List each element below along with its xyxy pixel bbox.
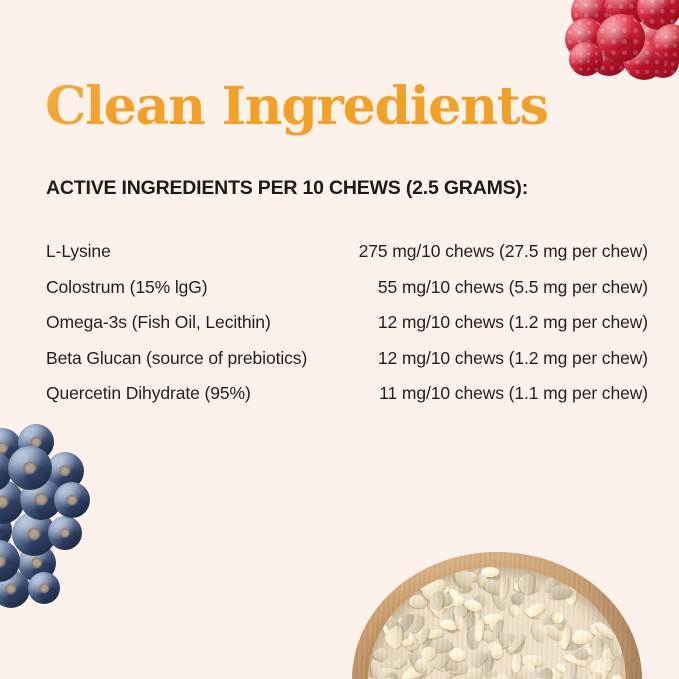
oat-flake: [481, 567, 499, 577]
blueberry: [0, 510, 12, 550]
ingredient-name: Omega-3s (Fish Oil, Lecithin): [46, 311, 271, 333]
oat-flake: [438, 643, 457, 669]
oat-flake: [559, 673, 582, 679]
oat-flake: [465, 665, 484, 679]
oat-flake: [421, 586, 443, 605]
oat-flake: [375, 666, 401, 679]
ingredient-name: Quercetin Dihydrate (95%): [46, 382, 251, 404]
oat-flake: [381, 613, 404, 636]
oat-flake: [475, 593, 490, 608]
oat-flake: [420, 635, 432, 659]
oat-flake: [587, 619, 611, 641]
ingredient-row: L-Lysine275 mg/10 chews (27.5 mg per che…: [46, 240, 648, 276]
oat-flake: [468, 626, 481, 650]
oat-flake: [439, 618, 459, 631]
blueberry: [20, 478, 62, 520]
ingredient-amount: 55 mg/10 chews (5.5 mg per chew): [378, 276, 648, 298]
oat-flake: [560, 640, 582, 650]
oat-flake: [541, 574, 560, 593]
oat-flake: [435, 592, 454, 607]
oat-flake: [431, 649, 452, 671]
oat-flake: [517, 572, 536, 596]
oat-flake: [591, 638, 601, 659]
bowl-exterior: [352, 552, 642, 679]
oat-flake: [458, 583, 472, 593]
oat-flake: [538, 668, 553, 679]
oat-flake: [427, 592, 439, 608]
oat-flake: [413, 656, 429, 673]
oat-flake: [529, 620, 550, 644]
blueberry: [12, 512, 56, 556]
oat-flake: [487, 621, 504, 637]
oat-flake: [509, 603, 521, 617]
oat-flake: [559, 626, 573, 651]
oat-flake: [442, 646, 468, 666]
oat-flake: [478, 572, 489, 588]
oat-flake: [444, 606, 460, 630]
oat-flake: [589, 659, 604, 673]
oat-flake: [437, 584, 453, 600]
oat-flake: [429, 595, 448, 615]
oat-flake: [490, 618, 504, 641]
oat-flake: [408, 595, 427, 609]
ingredient-amount: 12 mg/10 chews (1.2 mg per chew): [378, 311, 648, 333]
oat-flake: [487, 639, 503, 654]
oat-flake: [371, 645, 389, 663]
oat-flake: [479, 644, 503, 663]
oat-flake: [481, 613, 503, 625]
oat-flake: [564, 672, 585, 679]
oat-flake: [415, 628, 438, 645]
oat-flake: [392, 657, 407, 670]
oat-flake: [479, 628, 501, 646]
raspberry: [623, 38, 665, 80]
blueberry: [18, 544, 56, 582]
oat-flake: [502, 637, 517, 656]
oat-flake: [399, 669, 421, 679]
oat-flake: [418, 644, 438, 664]
oat-flake: [509, 662, 532, 679]
oat-flake: [402, 663, 428, 679]
oat-flake: [447, 587, 463, 607]
ingredient-row: Omega-3s (Fish Oil, Lecithin)12 mg/10 ch…: [46, 311, 648, 347]
ingredient-amount: 12 mg/10 chews (1.2 mg per chew): [378, 347, 648, 369]
oat-flake: [378, 611, 402, 634]
ingredient-name: Colostrum (15% lgG): [46, 276, 207, 298]
oat-flake: [429, 591, 444, 612]
oat-flake: [402, 663, 427, 679]
oat-flake: [551, 612, 564, 625]
oat-flake: [492, 671, 511, 679]
ingredient-name: Beta Glucan (source of prebiotics): [46, 347, 307, 369]
oat-flake: [424, 594, 446, 619]
oat-flake: [381, 621, 396, 636]
oat-flake: [554, 661, 567, 674]
oat-flake: [403, 670, 424, 679]
oat-flake: [381, 672, 398, 679]
oat-flake: [498, 631, 509, 647]
oat-flake: [385, 628, 400, 646]
oat-flake: [491, 644, 503, 659]
oat-flake: [471, 606, 482, 630]
oat-flake: [522, 654, 537, 671]
oat-flake: [593, 661, 612, 679]
oat-flake: [584, 641, 604, 657]
oat-flake: [566, 584, 578, 606]
oat-flake: [472, 567, 485, 578]
oat-flake: [443, 616, 462, 635]
oat-flake: [400, 633, 415, 648]
blueberry: [28, 572, 60, 604]
oat-flake: [586, 670, 604, 679]
oat-flake: [563, 653, 587, 668]
oat-flake: [446, 659, 468, 675]
oat-flake: [419, 577, 437, 596]
oat-flake: [609, 633, 625, 657]
oat-flake: [588, 634, 607, 652]
raspberries-image: [567, 0, 679, 70]
oat-flake: [456, 600, 478, 618]
blueberry: [0, 540, 20, 582]
blueberry: [0, 428, 22, 468]
oat-flake: [510, 667, 528, 679]
blueberry: [46, 452, 84, 490]
oat-flake: [433, 652, 445, 668]
blueberry: [48, 516, 82, 550]
oat-flake: [442, 591, 451, 608]
oat-flake: [543, 662, 569, 679]
raspberry: [653, 24, 679, 62]
oat-flake: [513, 580, 528, 594]
oat-flake: [550, 585, 573, 598]
oat-flake: [592, 654, 610, 672]
oat-flake: [453, 567, 476, 590]
oat-flake: [468, 649, 489, 669]
oat-flake: [400, 668, 418, 679]
blueberry: [0, 450, 12, 492]
blueberry: [8, 446, 52, 490]
oat-flake: [609, 672, 625, 679]
oat-flake: [434, 649, 461, 672]
oat-flake: [478, 567, 497, 578]
oat-flake: [370, 659, 382, 679]
ingredient-row: Quercetin Dihydrate (95%)11 mg/10 chews …: [46, 382, 648, 418]
blueberry: [54, 482, 90, 518]
raspberry: [637, 0, 679, 30]
page-title: Clean Ingredients: [45, 78, 548, 136]
oat-flake: [453, 604, 467, 617]
oat-flake: [561, 629, 579, 648]
oat-flake: [591, 632, 607, 648]
oat-flake: [395, 624, 408, 639]
oat-flake: [493, 638, 511, 650]
oat-flake: [459, 571, 479, 583]
raspberry: [569, 42, 603, 76]
oat-flake: [425, 629, 445, 640]
oat-flake: [441, 592, 466, 610]
ingredient-name: L-Lysine: [46, 240, 111, 262]
oat-flake: [563, 662, 578, 679]
oat-flake: [519, 580, 539, 594]
oat-flake: [444, 666, 460, 679]
raspberry: [647, 46, 679, 78]
oat-flake: [541, 621, 565, 642]
oat-flake: [431, 593, 448, 604]
oat-flake: [525, 667, 550, 679]
blueberry: [0, 480, 24, 524]
oat-flake: [408, 637, 432, 661]
oat-flake: [540, 675, 557, 679]
oat-flake: [573, 647, 590, 661]
oat-flake: [476, 567, 501, 591]
raspberry: [631, 14, 677, 60]
ingredient-table: L-Lysine275 mg/10 chews (27.5 mg per che…: [46, 240, 648, 418]
oat-flake: [453, 609, 465, 631]
oat-flake: [500, 631, 525, 656]
oat-flake: [572, 629, 591, 645]
oat-flake: [513, 637, 526, 652]
oat-flake: [403, 635, 422, 653]
oat-flake: [393, 616, 409, 632]
oat-flake: [544, 622, 565, 633]
oat-flake: [416, 627, 431, 645]
oat-flake: [594, 644, 620, 668]
oat-flake: [486, 675, 507, 679]
raspberry: [565, 18, 607, 60]
oat-flake: [437, 658, 452, 671]
oat-flake: [524, 605, 542, 619]
raspberry: [571, 0, 615, 34]
oat-flake: [525, 658, 539, 674]
oat-fill: [368, 567, 626, 679]
oat-flake: [493, 646, 500, 660]
oat-flake: [509, 590, 526, 607]
oat-flake: [544, 614, 566, 628]
section-subheading: ACTIVE INGREDIENTS PER 10 CHEWS (2.5 GRA…: [46, 176, 528, 200]
oat-flake: [481, 576, 505, 596]
oat-flake: [403, 632, 414, 648]
oat-flake: [421, 576, 449, 601]
oat-flake: [464, 611, 474, 632]
oat-flake: [418, 579, 438, 598]
raspberry: [605, 0, 651, 26]
oat-flake: [599, 657, 614, 673]
oat-flake: [511, 652, 522, 672]
oat-flake: [395, 612, 416, 636]
raspberry: [597, 14, 645, 62]
oat-flake: [462, 597, 482, 613]
oat-flake: [408, 651, 426, 674]
oat-flake: [427, 630, 444, 646]
oat-flake: [517, 576, 533, 596]
ingredient-row: Colostrum (15% lgG)55 mg/10 chews (5.5 m…: [46, 276, 648, 312]
oat-flake: [372, 656, 397, 673]
oat-flake: [480, 658, 502, 679]
raspberry: [589, 36, 629, 76]
ingredient-amount: 275 mg/10 chews (27.5 mg per chew): [359, 240, 648, 262]
oat-flake: [498, 578, 509, 599]
oat-flake: [504, 669, 526, 679]
oat-flake: [594, 621, 617, 641]
oat-flake: [490, 584, 512, 611]
oat-flake: [383, 614, 400, 632]
oat-flake: [521, 660, 536, 676]
oat-flake: [507, 632, 527, 654]
oat-flake: [521, 654, 546, 667]
oat-flake: [404, 611, 427, 635]
ingredient-row: Beta Glucan (source of prebiotics)12 mg/…: [46, 347, 648, 383]
oat-bowl-image: [352, 552, 642, 679]
oat-flake: [430, 638, 453, 652]
oat-flake: [490, 636, 504, 658]
oat-flake: [474, 618, 486, 642]
oat-flake: [431, 635, 447, 652]
blueberry: [0, 570, 30, 608]
oat-flake: [482, 655, 496, 672]
ingredient-amount: 11 mg/10 chews (1.1 mg per chew): [379, 382, 648, 404]
oat-flake: [445, 594, 462, 612]
oat-flake: [381, 675, 403, 679]
oat-flake: [417, 656, 440, 679]
oat-flake: [550, 592, 565, 600]
oat-flake: [387, 625, 404, 649]
clean-ingredients-panel: Clean Ingredients ACTIVE INGREDIENTS PER…: [0, 0, 679, 679]
oat-flake: [448, 647, 466, 663]
blueberries-image: [0, 424, 96, 610]
oat-flake: [452, 571, 465, 589]
oat-flake: [525, 599, 548, 618]
oat-flake: [547, 663, 565, 679]
oat-flake: [421, 585, 442, 609]
oat-flake: [401, 674, 417, 679]
oat-flake: [583, 629, 594, 648]
blueberry: [18, 424, 54, 460]
oat-flake: [473, 621, 487, 635]
